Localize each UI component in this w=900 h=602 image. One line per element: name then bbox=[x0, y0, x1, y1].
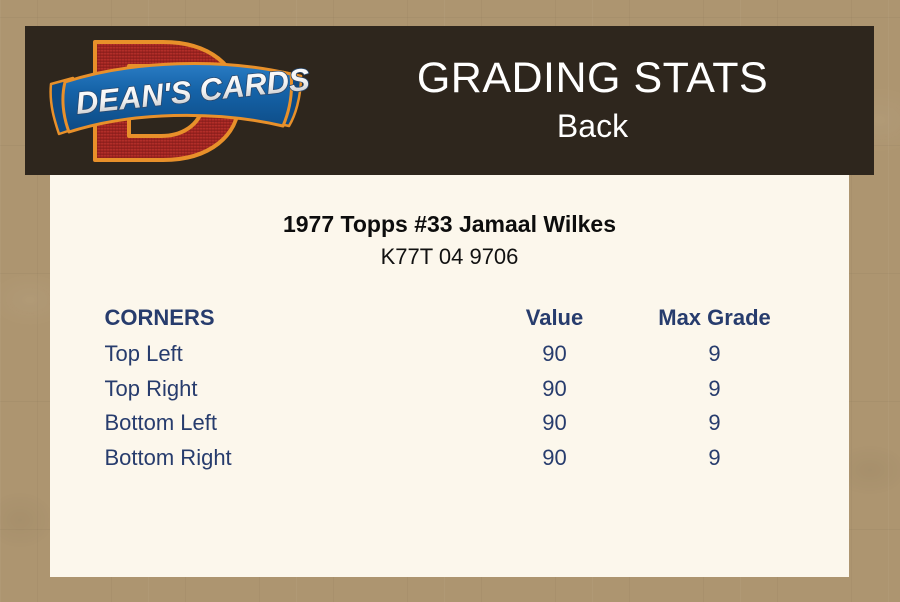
corners-stats-table: CORNERS Value Max Grade Top Left 90 9 To… bbox=[105, 305, 795, 475]
row-value: 90 bbox=[475, 337, 635, 372]
page-subtitle: Back bbox=[557, 107, 628, 145]
header-bar: DEAN'S CARDS GRADING STATS Back bbox=[25, 26, 874, 175]
header-title-group: GRADING STATS Back bbox=[311, 26, 874, 175]
page-title: GRADING STATS bbox=[417, 56, 768, 101]
row-label: Top Left bbox=[105, 337, 475, 372]
row-value: 90 bbox=[475, 406, 635, 441]
row-label: Bottom Right bbox=[105, 441, 475, 476]
column-header-corners: CORNERS bbox=[105, 305, 475, 336]
column-header-value: Value bbox=[475, 305, 635, 336]
card-title: 1977 Topps #33 Jamaal Wilkes bbox=[50, 212, 849, 237]
grading-stats-page: DEAN'S CARDS GRADING STATS Back 1977 Top… bbox=[0, 0, 900, 602]
table-header-row: CORNERS Value Max Grade bbox=[105, 305, 795, 336]
table-row: Top Left 90 9 bbox=[105, 337, 795, 372]
table-row: Bottom Left 90 9 bbox=[105, 406, 795, 441]
row-max-grade: 9 bbox=[635, 337, 795, 372]
row-value: 90 bbox=[475, 441, 635, 476]
row-label: Top Right bbox=[105, 372, 475, 407]
row-max-grade: 9 bbox=[635, 406, 795, 441]
card-serial-number: K77T 04 9706 bbox=[50, 245, 849, 269]
table-row: Top Right 90 9 bbox=[105, 372, 795, 407]
table-row: Bottom Right 90 9 bbox=[105, 441, 795, 476]
content-panel: 1977 Topps #33 Jamaal Wilkes K77T 04 970… bbox=[50, 175, 849, 577]
column-header-max-grade: Max Grade bbox=[635, 305, 795, 336]
row-max-grade: 9 bbox=[635, 372, 795, 407]
row-label: Bottom Left bbox=[105, 406, 475, 441]
row-max-grade: 9 bbox=[635, 441, 795, 476]
deans-cards-logo: DEAN'S CARDS bbox=[43, 32, 311, 170]
row-value: 90 bbox=[475, 372, 635, 407]
